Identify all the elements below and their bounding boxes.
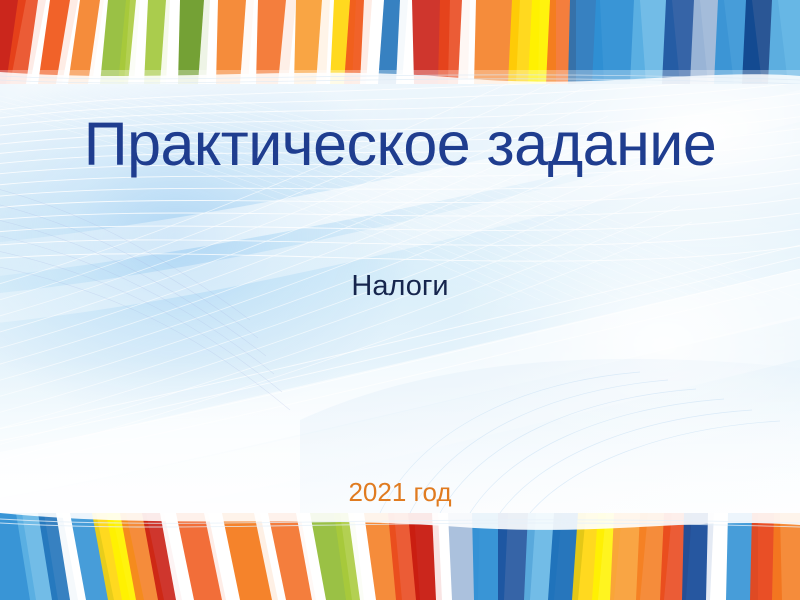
bottom-decorative-band <box>0 513 800 600</box>
slide-subtitle: Налоги <box>0 269 800 304</box>
slide-title: Практическое задание <box>0 112 800 176</box>
bottom-band-artwork <box>0 513 800 600</box>
slide-year: 2021 год <box>0 477 800 508</box>
top-decorative-band <box>0 0 800 84</box>
top-band-artwork <box>0 0 800 84</box>
presentation-slide: Практическое задание Налоги 2021 год <box>0 0 800 600</box>
